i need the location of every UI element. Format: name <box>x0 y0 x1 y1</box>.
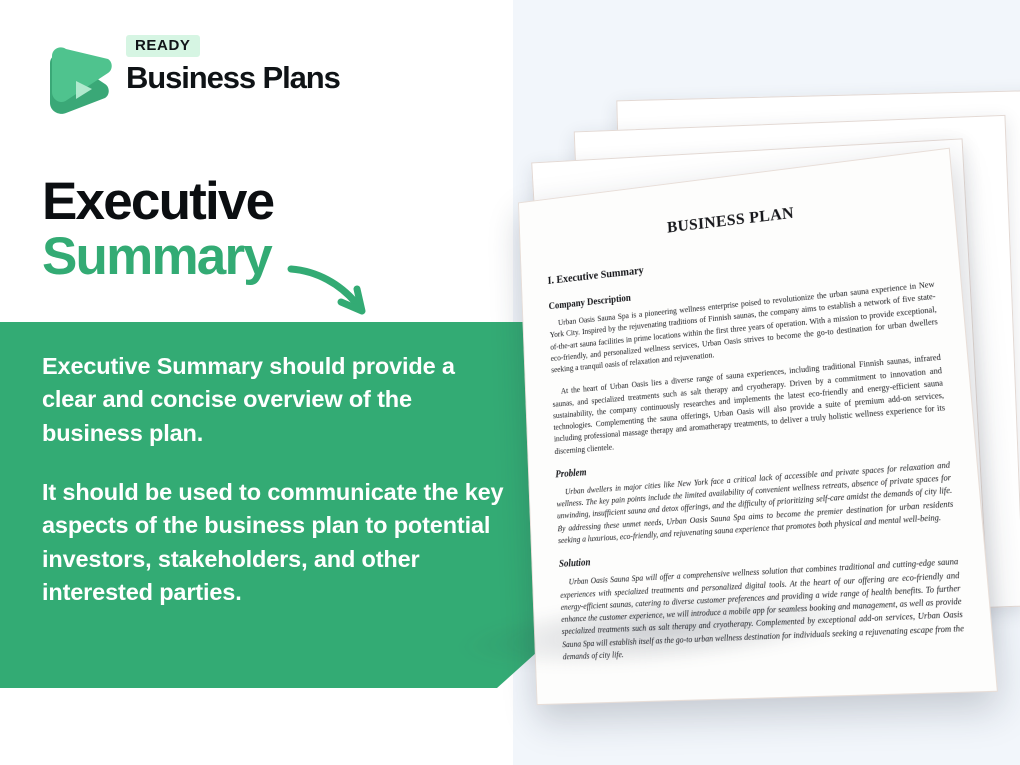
curved-down-right-arrow-icon <box>283 255 383 325</box>
ready-badge: READY <box>126 35 200 57</box>
brand-name: Business Plans <box>126 62 372 94</box>
page-title-line-2: Summary <box>42 230 462 285</box>
document-stack: BUSINESS PLAN I. Executive Summary Compa… <box>470 95 1020 665</box>
poster-canvas: READY Business Plans Executive Summary E… <box>0 0 1020 765</box>
page-title-line-1: Executive <box>42 175 462 230</box>
summary-paragraph-2: It should be used to communicate the key… <box>42 476 512 609</box>
summary-callout-text: Executive Summary should provide a clear… <box>42 350 512 610</box>
brand-logo[interactable]: READY Business Plans <box>42 35 372 115</box>
page-title: Executive Summary <box>42 175 462 284</box>
summary-paragraph-1: Executive Summary should provide a clear… <box>42 350 512 450</box>
play-triangle-logo-icon <box>42 37 114 115</box>
logo-wordmark: READY Business Plans <box>126 35 372 94</box>
